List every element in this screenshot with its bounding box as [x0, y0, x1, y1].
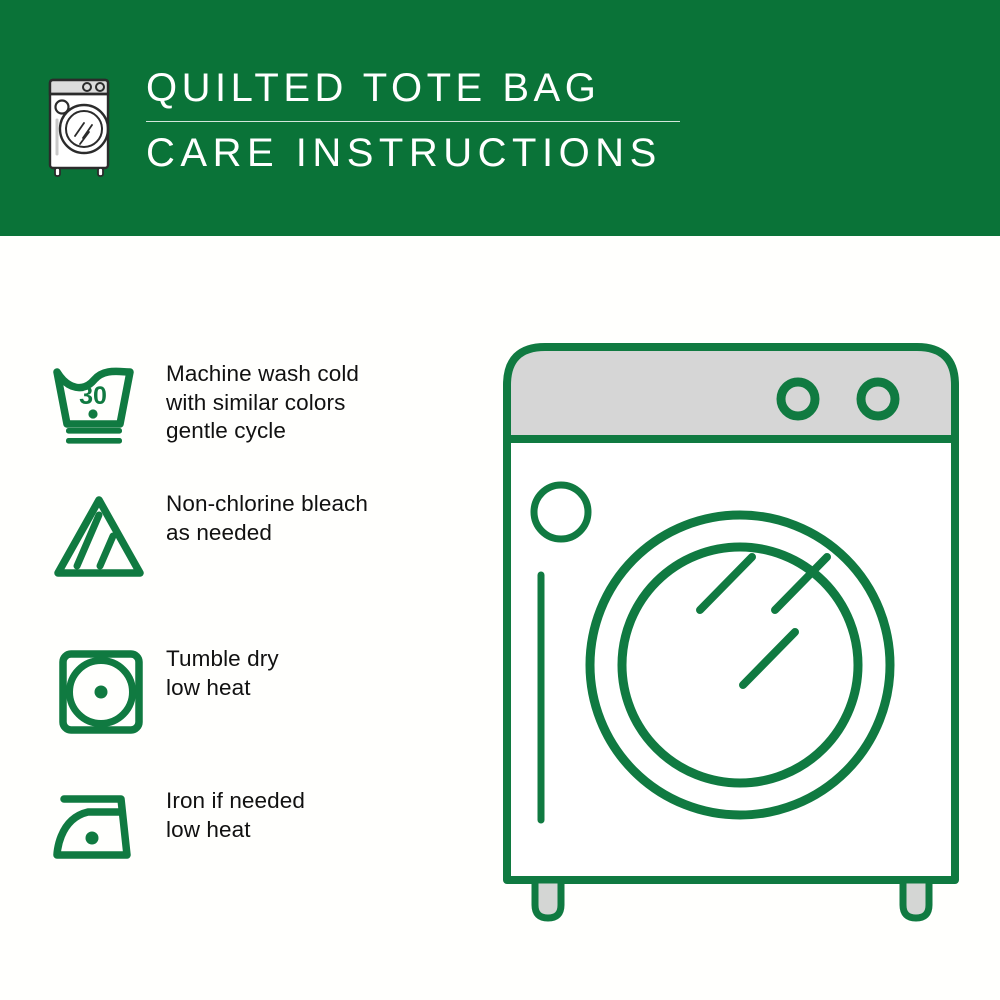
wash-tub-30-icon: 30	[48, 358, 154, 450]
care-symbol-wrapper: 30	[48, 358, 166, 450]
header-divider	[146, 121, 680, 122]
washing-machine-illustration	[495, 335, 980, 930]
header-text-block: QUILTED TOTE BAG CARE INSTRUCTIONS	[146, 64, 706, 178]
care-symbol-wrapper	[48, 643, 166, 739]
care-symbol-wrapper	[48, 488, 166, 584]
leg-right	[903, 880, 929, 918]
tumble-dry-low-icon	[48, 643, 154, 739]
care-label-iron: Iron if needed low heat	[166, 785, 305, 844]
care-label-machine-wash: Machine wash cold with similar colors ge…	[166, 358, 359, 446]
care-symbol-wrapper	[48, 785, 166, 871]
leg-left	[535, 880, 561, 918]
page-subtitle: CARE INSTRUCTIONS	[146, 128, 706, 178]
care-label-tumble-dry: Tumble dry low heat	[166, 643, 279, 702]
care-row-bleach: Non-chlorine bleach as needed	[48, 488, 478, 584]
care-row-machine-wash: 30 Machine wash cold with similar colors…	[48, 358, 478, 450]
wash-temperature-value: 30	[79, 382, 107, 410]
care-instructions-page: QUILTED TOTE BAG CARE INSTRUCTIONS 30 Ma…	[0, 0, 1000, 1000]
page-title: QUILTED TOTE BAG	[146, 64, 706, 112]
top-control-panel	[507, 347, 955, 439]
header-band: QUILTED TOTE BAG CARE INSTRUCTIONS	[0, 0, 1000, 236]
non-chlorine-bleach-triangle-icon	[48, 488, 154, 584]
wash-dot	[88, 409, 97, 418]
care-row-tumble-dry: Tumble dry low heat	[48, 643, 478, 739]
washing-machine-icon	[44, 66, 120, 178]
care-row-iron: Iron if needed low heat	[48, 785, 478, 871]
care-label-bleach: Non-chlorine bleach as needed	[166, 488, 368, 547]
iron-low-heat-icon	[48, 785, 154, 871]
